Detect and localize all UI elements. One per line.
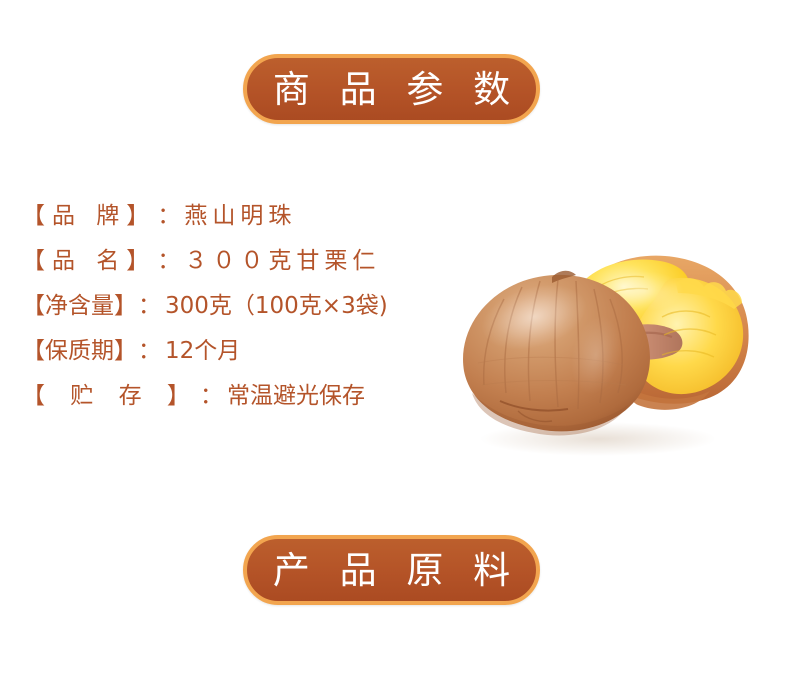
spec-colon-brand: ： [156, 205, 184, 228]
spec-row-brand: 【品 牌】 ： 燕山明珠 [22, 205, 452, 250]
spec-value-storage: 常温避光保存 [227, 385, 365, 408]
product-detail-page: 商 品 参 数 【品 牌】 ： 燕山明珠 【品 名】 ： ３００克甘栗仁 【净含… [0, 0, 790, 678]
spec-label-shelf-life: 【保质期】 [22, 340, 137, 363]
spec-label-product-name: 【品 名】 [22, 250, 156, 273]
spec-colon-net-content: ： [137, 295, 165, 318]
spec-row-storage: 【 贮 存 】 ： 常温避光保存 [22, 385, 452, 430]
spec-colon-shelf-life: ： [137, 340, 165, 363]
peeled-chestnuts-photo [448, 243, 766, 463]
chestnut-illustration [448, 243, 766, 463]
section-heading-parameters-label: 商 品 参 数 [264, 71, 519, 108]
spec-row-shelf-life: 【保质期】 ： 12个月 [22, 340, 452, 385]
spec-value-shelf-life: 12个月 [165, 340, 240, 363]
spec-value-net-content: 300克（100克×3袋) [165, 295, 388, 318]
spec-value-brand: 燕山明珠 [184, 205, 296, 228]
product-spec-list: 【品 牌】 ： 燕山明珠 【品 名】 ： ３００克甘栗仁 【净含量】 ： 300… [22, 205, 452, 430]
spec-label-net-content: 【净含量】 [22, 295, 137, 318]
spec-label-storage: 【 贮 存 】 [22, 385, 199, 408]
spec-colon-product-name: ： [156, 250, 184, 273]
section-heading-ingredients-label: 产 品 原 料 [264, 552, 519, 589]
spec-colon-storage: ： [199, 385, 227, 408]
section-heading-ingredients: 产 品 原 料 [243, 535, 540, 605]
spec-row-net-content: 【净含量】 ： 300克（100克×3袋) [22, 295, 452, 340]
spec-label-brand: 【品 牌】 [22, 205, 156, 228]
section-heading-parameters: 商 品 参 数 [243, 54, 540, 124]
spec-row-product-name: 【品 名】 ： ３００克甘栗仁 [22, 250, 452, 295]
spec-value-product-name: ３００克甘栗仁 [184, 250, 380, 273]
